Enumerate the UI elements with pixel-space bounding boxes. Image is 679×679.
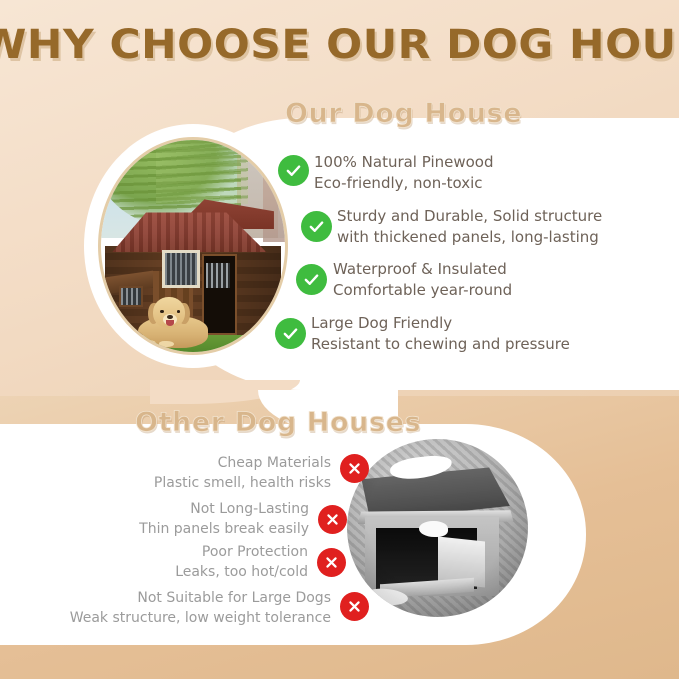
photo-golden-retriever bbox=[138, 297, 208, 348]
benefit-line-2: Resistant to chewing and pressure bbox=[311, 334, 570, 355]
benefit-line-2: Eco-friendly, non-toxic bbox=[314, 173, 494, 194]
ours-photo-frame bbox=[84, 124, 302, 368]
benefit-line-2: Comfortable year-round bbox=[333, 280, 512, 301]
cross-icon bbox=[340, 454, 369, 483]
photo-vignette bbox=[347, 439, 528, 617]
cross-icon bbox=[340, 592, 369, 621]
others-photo bbox=[347, 439, 528, 617]
check-icon bbox=[275, 318, 306, 349]
drawback-line-2: Thin panels break easily bbox=[139, 519, 309, 539]
photo-window-grill bbox=[162, 250, 201, 288]
drawback-line-1: Not Long-Lasting bbox=[190, 501, 309, 517]
drawback-item: Poor Protection Leaks, too hot/cold bbox=[175, 542, 308, 582]
cross-icon bbox=[317, 548, 346, 577]
photo-willow-tree2 bbox=[156, 140, 248, 204]
section-heading-ours: Our Dog House bbox=[285, 98, 522, 129]
drawback-line-1: Cheap Materials bbox=[218, 455, 331, 471]
check-icon bbox=[296, 264, 327, 295]
section-heading-others: Other Dog Houses bbox=[135, 407, 421, 438]
drawback-line-1: Not Suitable for Large Dogs bbox=[137, 590, 331, 606]
photo-door-grill bbox=[206, 263, 230, 288]
benefit-line-1: Large Dog Friendly bbox=[311, 314, 452, 332]
dog-paw-left bbox=[141, 340, 156, 347]
dog-mouth bbox=[166, 320, 174, 326]
benefit-item: Large Dog Friendly Resistant to chewing … bbox=[311, 313, 570, 355]
dog-eye-left bbox=[160, 310, 163, 313]
benefit-line-2: with thickened panels, long-lasting bbox=[337, 227, 602, 248]
ours-photo bbox=[98, 137, 288, 355]
cross-icon bbox=[318, 505, 347, 534]
drawback-item: Cheap Materials Plastic smell, health ri… bbox=[154, 453, 331, 493]
benefit-item: 100% Natural Pinewood Eco-friendly, non-… bbox=[314, 152, 494, 194]
page-title: WHY CHOOSE OUR DOG HOUSE?" bbox=[0, 22, 679, 68]
drawback-item: Not Long-Lasting Thin panels break easil… bbox=[139, 499, 309, 539]
check-icon bbox=[278, 155, 309, 186]
benefit-line-1: 100% Natural Pinewood bbox=[314, 153, 494, 171]
drawback-line-2: Plastic smell, health risks bbox=[154, 473, 331, 493]
drawback-line-2: Leaks, too hot/cold bbox=[175, 562, 308, 582]
benefit-item: Sturdy and Durable, Solid structure with… bbox=[337, 206, 602, 248]
drawback-item: Not Suitable for Large Dogs Weak structu… bbox=[70, 588, 331, 628]
check-icon bbox=[301, 211, 332, 242]
drawback-line-2: Weak structure, low weight tolerance bbox=[70, 608, 331, 628]
infographic-canvas: WHY CHOOSE OUR DOG HOUSE?" Our Dog House bbox=[0, 0, 679, 679]
benefit-line-1: Sturdy and Durable, Solid structure bbox=[337, 207, 602, 225]
benefit-line-1: Waterproof & Insulated bbox=[333, 260, 507, 278]
drawback-line-1: Poor Protection bbox=[202, 544, 308, 560]
benefit-item: Waterproof & Insulated Comfortable year-… bbox=[333, 259, 512, 301]
